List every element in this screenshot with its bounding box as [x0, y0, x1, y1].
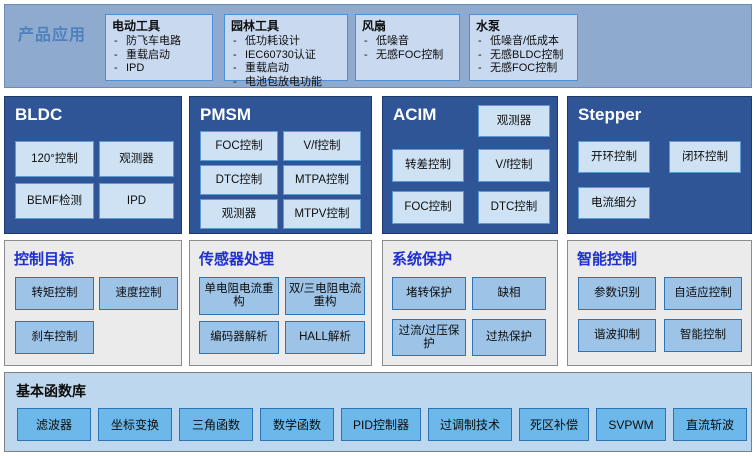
- chip-fn-pid-controller[interactable]: PID控制器: [341, 408, 421, 441]
- chip-fn-svpwm[interactable]: SVPWM: [596, 408, 666, 441]
- chip-sensor-0[interactable]: 单电阻电流重构: [199, 277, 279, 315]
- motor-panel-pmsm: PMSM FOC控制 V/f控制 DTC控制 MTPA控制 观测器 MTPV控制: [189, 96, 372, 234]
- list-item: IPD: [112, 62, 206, 76]
- chip-fn-filter[interactable]: 滤波器: [17, 408, 91, 441]
- chip-bldc-1[interactable]: 观测器: [99, 141, 174, 177]
- chip-pmsm-2[interactable]: DTC控制: [200, 165, 278, 195]
- chip-pmsm-4[interactable]: 观测器: [200, 199, 278, 229]
- chip-acim-2[interactable]: V/f控制: [478, 149, 550, 182]
- chip-acim-0[interactable]: 观测器: [478, 105, 550, 137]
- chip-protection-3[interactable]: 过热保护: [472, 319, 546, 356]
- chip-control-target-1[interactable]: 速度控制: [99, 277, 178, 310]
- chip-fn-math[interactable]: 数学函数: [260, 408, 334, 441]
- chip-stepper-0[interactable]: 开环控制: [578, 141, 650, 173]
- chip-protection-1[interactable]: 缺相: [472, 277, 546, 310]
- group-panel-control-target: 控制目标 转矩控制 速度控制 刹车控制: [4, 240, 182, 366]
- chip-pmsm-5[interactable]: MTPV控制: [283, 199, 361, 229]
- list-item: 防飞车电路: [112, 35, 206, 49]
- app-card-water-pump[interactable]: 水泵 低噪音/低成本 无感BLDC控制 无感FOC控制: [469, 14, 578, 81]
- chip-bldc-3[interactable]: IPD: [99, 183, 174, 219]
- motor-panel-title: BLDC: [15, 105, 62, 125]
- list-item: IEC60730认证: [231, 49, 341, 63]
- list-item: 电池包放电功能: [231, 76, 341, 90]
- chip-pmsm-0[interactable]: FOC控制: [200, 131, 278, 161]
- product-application-band: 产品应用 电动工具 防飞车电路 重载启动 IPD 园林工具 低功耗设计 IEC6…: [4, 4, 752, 88]
- function-library-title: 基本函数库: [16, 381, 86, 401]
- motor-panel-bldc: BLDC 120°控制 观测器 BEMF检测 IPD: [4, 96, 182, 234]
- chip-sensor-3[interactable]: HALL解析: [285, 321, 365, 354]
- group-panel-sensor-processing: 传感器处理 单电阻电流重构 双/三电阻电流重构 编码器解析 HALL解析: [189, 240, 372, 366]
- chip-sensor-2[interactable]: 编码器解析: [199, 321, 279, 354]
- chip-intelligent-1[interactable]: 自适应控制: [664, 277, 742, 310]
- app-card-list: 低功耗设计 IEC60730认证 重载启动 电池包放电功能: [231, 35, 341, 89]
- group-panel-title: 智能控制: [577, 248, 637, 269]
- motor-panel-acim: ACIM 观测器 转差控制 V/f控制 FOC控制 DTC控制: [382, 96, 558, 234]
- list-item: 重载启动: [112, 49, 206, 63]
- list-item: 无感FOC控制: [362, 49, 453, 63]
- chip-intelligent-0[interactable]: 参数识别: [578, 277, 656, 310]
- product-application-title: 产品应用: [18, 21, 86, 45]
- chip-fn-coordinate[interactable]: 坐标变换: [98, 408, 172, 441]
- list-item: 无感BLDC控制: [476, 49, 571, 63]
- motor-panel-title: ACIM: [393, 105, 436, 125]
- chip-fn-overmodulation[interactable]: 过调制技术: [428, 408, 512, 441]
- chip-protection-2[interactable]: 过流/过压保护: [392, 319, 466, 356]
- app-card-title: 园林工具: [231, 19, 341, 34]
- app-card-list: 低噪音 无感FOC控制: [362, 35, 453, 62]
- motor-panel-title: Stepper: [578, 105, 641, 125]
- app-card-list: 防飞车电路 重载启动 IPD: [112, 35, 206, 76]
- group-panel-system-protection: 系统保护 堵转保护 缺相 过流/过压保护 过热保护: [382, 240, 558, 366]
- app-card-fan[interactable]: 风扇 低噪音 无感FOC控制: [355, 14, 460, 81]
- chip-acim-3[interactable]: FOC控制: [392, 191, 464, 224]
- app-card-power-tools[interactable]: 电动工具 防飞车电路 重载启动 IPD: [105, 14, 213, 81]
- list-item: 低噪音: [362, 35, 453, 49]
- chip-sensor-1[interactable]: 双/三电阻电流重构: [285, 277, 365, 315]
- chip-fn-dc-chopper[interactable]: 直流斩波: [673, 408, 747, 441]
- chip-bldc-0[interactable]: 120°控制: [15, 141, 94, 177]
- motor-panel-stepper: Stepper 开环控制 闭环控制 电流细分: [567, 96, 752, 234]
- list-item: 无感FOC控制: [476, 62, 571, 76]
- list-item: 低噪音/低成本: [476, 35, 571, 49]
- chip-stepper-2[interactable]: 电流细分: [578, 187, 650, 219]
- chip-bldc-2[interactable]: BEMF检测: [15, 183, 94, 219]
- chip-acim-4[interactable]: DTC控制: [478, 191, 550, 224]
- chip-pmsm-3[interactable]: MTPA控制: [283, 165, 361, 195]
- app-card-title: 风扇: [362, 19, 453, 34]
- function-library-band: 基本函数库 滤波器 坐标变换 三角函数 数学函数 PID控制器 过调制技术 死区…: [4, 372, 752, 452]
- app-card-title: 电动工具: [112, 19, 206, 34]
- list-item: 低功耗设计: [231, 35, 341, 49]
- chip-stepper-1[interactable]: 闭环控制: [669, 141, 741, 173]
- chip-pmsm-1[interactable]: V/f控制: [283, 131, 361, 161]
- chip-protection-0[interactable]: 堵转保护: [392, 277, 466, 310]
- motor-panel-title: PMSM: [200, 105, 251, 125]
- app-card-garden-tools[interactable]: 园林工具 低功耗设计 IEC60730认证 重载启动 电池包放电功能: [224, 14, 348, 81]
- app-card-title: 水泵: [476, 19, 571, 34]
- group-panel-title: 传感器处理: [199, 248, 274, 269]
- chip-acim-1[interactable]: 转差控制: [392, 149, 464, 182]
- chip-intelligent-3[interactable]: 智能控制: [664, 319, 742, 352]
- app-card-list: 低噪音/低成本 无感BLDC控制 无感FOC控制: [476, 35, 571, 76]
- chip-fn-trigonometric[interactable]: 三角函数: [179, 408, 253, 441]
- list-item: 重载启动: [231, 62, 341, 76]
- group-panel-intelligent-control: 智能控制 参数识别 自适应控制 谐波抑制 智能控制: [567, 240, 752, 366]
- diagram-root: 产品应用 电动工具 防飞车电路 重载启动 IPD 园林工具 低功耗设计 IEC6…: [0, 0, 756, 456]
- chip-fn-deadtime-comp[interactable]: 死区补偿: [519, 408, 589, 441]
- group-panel-title: 系统保护: [392, 248, 452, 269]
- chip-control-target-2[interactable]: 刹车控制: [15, 321, 94, 354]
- chip-intelligent-2[interactable]: 谐波抑制: [578, 319, 656, 352]
- chip-control-target-0[interactable]: 转矩控制: [15, 277, 94, 310]
- group-panel-title: 控制目标: [14, 248, 74, 269]
